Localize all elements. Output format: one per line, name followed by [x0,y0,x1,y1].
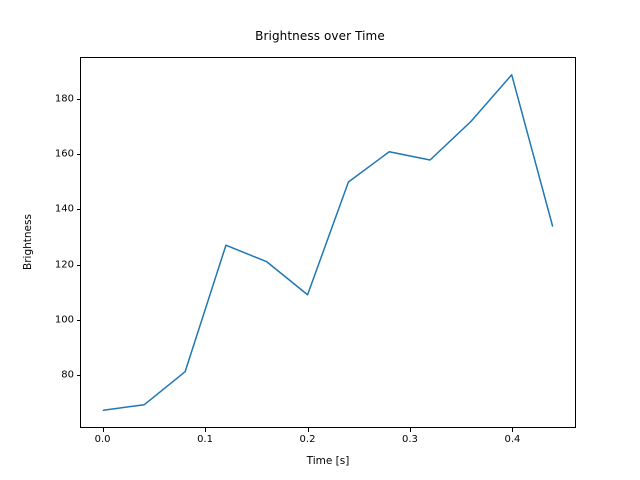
y-axis-label: Brightness [22,214,34,270]
line-series-svg [81,58,575,427]
y-tick-mark [77,154,81,155]
x-tick-mark [512,428,513,432]
chart-title: Brightness over Time [0,29,640,43]
y-tick-mark [77,99,81,100]
x-tick-mark [205,428,206,432]
figure-canvas: Brightness over Time 0.00.10.20.30.4 801… [0,0,640,480]
x-tick-label: 0.1 [197,434,213,445]
y-tick-label: 80 [34,370,74,381]
y-tick-mark [77,265,81,266]
x-axis-label: Time [s] [80,455,576,467]
x-tick-mark [308,428,309,432]
x-tick-label: 0.3 [402,434,418,445]
x-tick-label: 0.4 [505,434,521,445]
y-tick-mark [77,320,81,321]
y-tick-label: 160 [34,149,74,160]
y-tick-label: 180 [34,93,74,104]
brightness-line [103,75,552,410]
x-tick-label: 0.2 [300,434,316,445]
plot-axes [80,57,576,428]
x-tick-label: 0.0 [95,434,111,445]
y-tick-label: 140 [34,204,74,215]
y-tick-label: 120 [34,259,74,270]
y-tick-mark [77,209,81,210]
y-axis-label-wrapper: Brightness [22,242,36,243]
y-tick-mark [77,375,81,376]
x-tick-mark [103,428,104,432]
x-tick-mark [410,428,411,432]
y-tick-label: 100 [34,314,74,325]
